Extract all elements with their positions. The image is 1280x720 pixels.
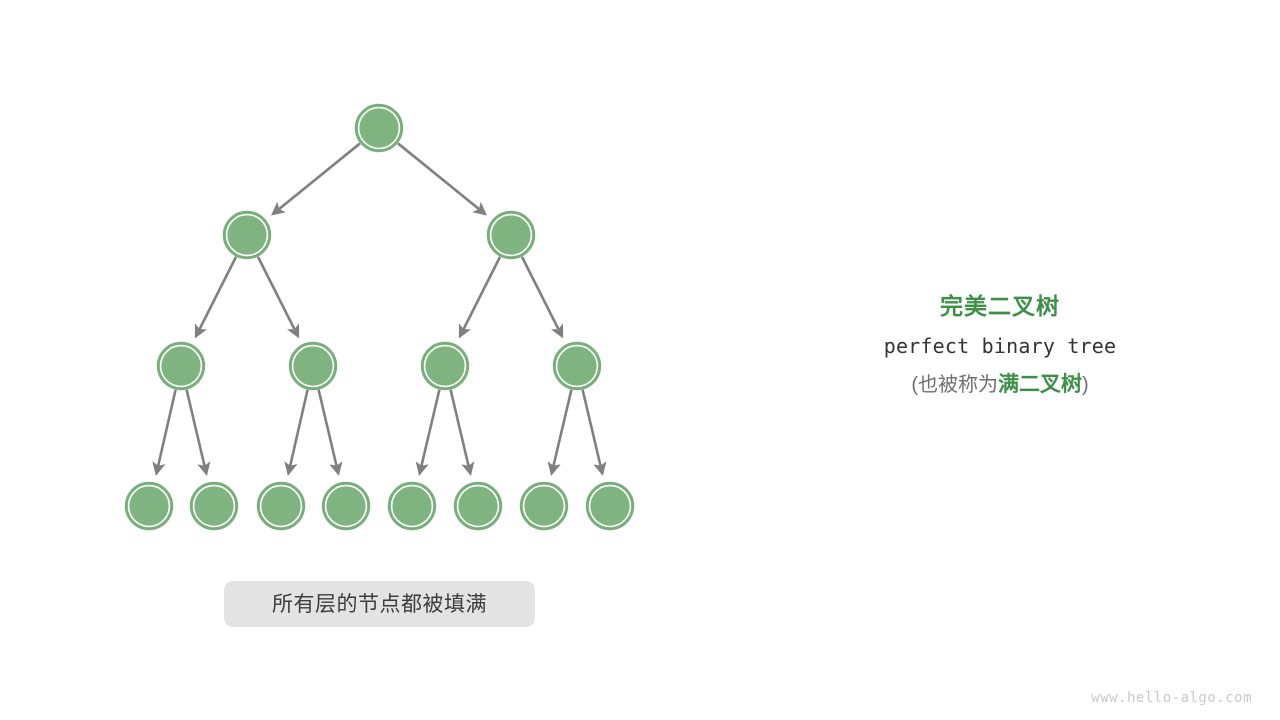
tree-node-inner-ring: [161, 346, 202, 387]
tree-edge: [288, 390, 307, 474]
tree-node[interactable]: [191, 483, 237, 529]
tree-edge: [258, 257, 298, 337]
tree-node-inner-ring: [491, 215, 532, 256]
tree-edge: [552, 390, 572, 474]
tree-edge: [522, 257, 562, 337]
legend-subtitle: perfect binary tree: [800, 333, 1200, 359]
tree-node-inner-ring: [557, 346, 598, 387]
tree-edge: [398, 143, 485, 214]
tree-node-inner-ring: [293, 346, 334, 387]
tree-node[interactable]: [554, 343, 600, 389]
tree-edge: [319, 390, 339, 474]
tree-node-inner-ring: [359, 108, 400, 149]
tree-node[interactable]: [521, 483, 567, 529]
tree-node-inner-ring: [590, 486, 631, 527]
tree-node-inner-ring: [392, 486, 433, 527]
tree-node-inner-ring: [194, 486, 235, 527]
tree-edge: [420, 390, 440, 474]
tree-node-inner-ring: [129, 486, 170, 527]
tree-node-inner-ring: [425, 346, 466, 387]
legend-alt-prefix: (也被称为: [911, 374, 998, 396]
tree-node[interactable]: [290, 343, 336, 389]
tree-node-inner-ring: [458, 486, 499, 527]
tree-node[interactable]: [323, 483, 369, 529]
tree-node[interactable]: [488, 212, 534, 258]
tree-node[interactable]: [587, 483, 633, 529]
caption-label: 所有层的节点都被填满: [272, 594, 487, 615]
diagram-canvas: 所有层的节点都被填满 完美二叉树 perfect binary tree (也被…: [0, 0, 1280, 720]
tree-edge: [583, 390, 603, 474]
tree-node[interactable]: [422, 343, 468, 389]
legend-alt-strong: 满二叉树: [998, 373, 1082, 396]
tree-edge: [273, 143, 360, 214]
legend-alt-name: (也被称为满二叉树): [800, 371, 1200, 398]
tree-edge: [460, 257, 500, 337]
tree-node[interactable]: [126, 483, 172, 529]
tree-node-layer: [126, 105, 633, 529]
tree-node[interactable]: [389, 483, 435, 529]
tree-node-inner-ring: [261, 486, 302, 527]
tree-node[interactable]: [356, 105, 402, 151]
tree-node[interactable]: [258, 483, 304, 529]
legend-alt-suffix: ): [1082, 374, 1089, 396]
tree-edge: [187, 390, 207, 474]
watermark-label: www.hello-algo.com: [1091, 690, 1252, 706]
tree-edge: [451, 390, 471, 474]
tree-node-inner-ring: [524, 486, 565, 527]
tree-node-inner-ring: [326, 486, 367, 527]
tree-node[interactable]: [224, 212, 270, 258]
tree-edge-layer: [156, 143, 602, 473]
tree-edge: [156, 390, 175, 474]
tree-node[interactable]: [455, 483, 501, 529]
tree-node[interactable]: [158, 343, 204, 389]
caption-badge: 所有层的节点都被填满: [224, 581, 535, 627]
tree-node-inner-ring: [227, 215, 268, 256]
legend-title: 完美二叉树: [800, 292, 1200, 322]
legend-block: 完美二叉树 perfect binary tree (也被称为满二叉树): [800, 292, 1200, 398]
tree-edge: [196, 257, 236, 337]
